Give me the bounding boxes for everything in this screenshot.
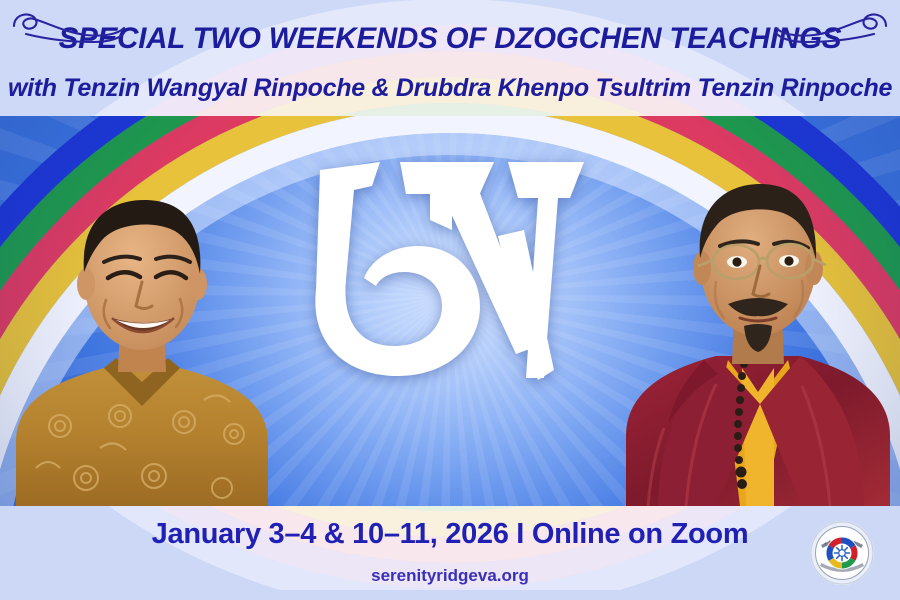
- serenity-ridge-seal-logo[interactable]: [809, 520, 875, 586]
- page-title: SPECIAL TWO WEEKENDS OF DZOGCHEN TEACHIN…: [0, 22, 900, 56]
- event-date-text: January 3–4 & 10–11, 2026 I Online on Zo…: [0, 518, 900, 551]
- tibetan-letter-a-icon: [302, 140, 602, 400]
- portrait-tenzin-wangyal-rinpoche: [8, 176, 276, 506]
- flourish-swash-icon: [774, 4, 894, 46]
- portrait-khenpo-tsultrim-tenzin-rinpoche: [624, 154, 892, 506]
- footer-band: January 3–4 & 10–11, 2026 I Online on Zo…: [0, 506, 900, 600]
- flourish-swash-icon: [6, 4, 126, 46]
- header-band: SPECIAL TWO WEEKENDS OF DZOGCHEN TEACHIN…: [0, 0, 900, 116]
- main-image-area: [0, 116, 900, 506]
- website-url-text[interactable]: serenityridgeva.org: [0, 566, 900, 586]
- page-subtitle: with Tenzin Wangyal Rinpoche & Drubdra K…: [0, 74, 900, 103]
- poster-banner: SPECIAL TWO WEEKENDS OF DZOGCHEN TEACHIN…: [0, 0, 900, 600]
